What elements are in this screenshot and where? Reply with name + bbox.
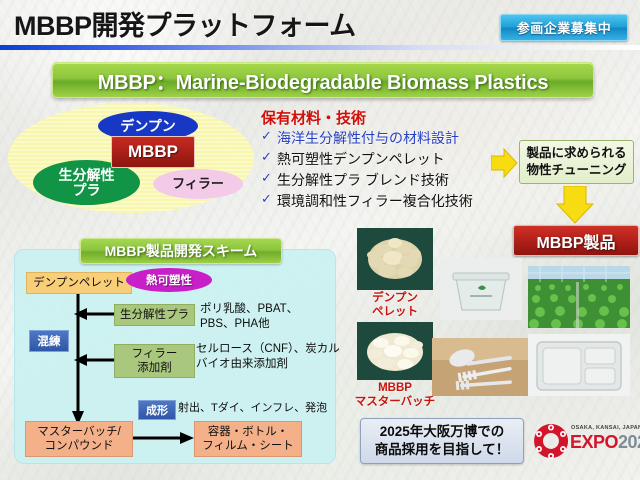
flow-box-container: 容器・ボトル・ フィルム・シート: [194, 421, 302, 457]
flow-box-biodegradable-plastic: 生分解性プラ: [114, 304, 195, 326]
mbbp-masterbatch-caption: MBBP マスターバッチ: [349, 382, 441, 410]
check-icon: ✓: [261, 191, 277, 207]
starch-pellets-photo: [357, 228, 433, 290]
list-item-label: 熱可塑性デンプンペレット: [277, 149, 445, 169]
mbbp-definition-banner: MBBP：Marine-Biodegradable Biomass Plasti…: [52, 62, 594, 98]
cutlery-photo: [432, 338, 532, 396]
holdings-heading: 保有材料・技術: [261, 107, 366, 128]
venn-diagram: デンプン 生分解性 プラ フィラー MBBP: [8, 103, 254, 213]
list-item-label: 環境調和性フィラー複合化技術: [277, 191, 473, 211]
venn-center-mbbp: MBBP: [111, 136, 195, 168]
flow-box-masterbatch: マスターバッチ/ コンパウンド: [25, 421, 133, 457]
flow-tag-mold: 成形: [138, 400, 176, 420]
flow-note-filler-additive: セルロース（CNF）、炭カル バイオ由来添加剤: [196, 342, 340, 372]
flow-note-biodegradable-plastic: ポリ乳酸、PBAT、 PBS、PHA他: [200, 302, 298, 332]
bento-tray-photo: [528, 334, 630, 396]
expo-logo-year-text: 2025: [618, 432, 640, 452]
arrow-down-icon: [556, 186, 594, 224]
list-item: ✓ 海洋生分解性付与の材料設計: [261, 128, 506, 148]
flow-tag-knead: 混練: [29, 330, 69, 352]
list-item-label: 生分解性プラ ブレンド技術: [277, 170, 449, 190]
holdings-list: ✓ 海洋生分解性付与の材料設計 ✓ 熱可塑性デンプンペレット ✓ 生分解性プラ …: [261, 128, 506, 212]
check-icon: ✓: [261, 128, 277, 144]
mbbp-masterbatch-photo: [357, 322, 433, 380]
check-icon: ✓: [261, 149, 277, 165]
expo-2025-logo: OSAKA, KANSAI, JAPAN EXPO2025: [533, 420, 635, 462]
venn-blob-filler: フィラー: [153, 169, 243, 199]
expo-logo-wordmark: EXPO2025: [570, 432, 640, 453]
mbbp-product-box: MBBP製品: [513, 225, 639, 256]
slide-root: MBBP開発プラットフォーム 参画企業募集中 MBBP：Marine-Biode…: [0, 0, 640, 480]
list-item: ✓ 生分解性プラ ブレンド技術: [261, 170, 506, 190]
flow-note-molding: 射出、Tダイ、インフレ、発泡: [178, 401, 327, 415]
page-title: MBBP開発プラットフォーム: [14, 4, 356, 43]
greenhouse-seedlings-photo: [528, 266, 630, 328]
expo-logo-subtitle: OSAKA, KANSAI, JAPAN: [571, 425, 640, 431]
expo-message-box: 2025年大阪万博での 商品採用を目指して！: [360, 418, 524, 464]
plastic-container-photo: [440, 258, 522, 320]
header-divider: [0, 45, 640, 50]
arrow-right-icon: [491, 148, 518, 178]
expo-logo-main-text: EXPO: [570, 432, 618, 452]
recruiting-badge[interactable]: 参画企業募集中: [500, 14, 628, 41]
list-item: ✓ 熱可塑性デンプンペレット: [261, 149, 506, 169]
check-icon: ✓: [261, 170, 277, 186]
starch-pellets-caption: デンプン ペレット: [349, 292, 441, 320]
tuning-box: 製品に求められる 物性チューニング: [519, 140, 634, 184]
flow-box-starch-pellet: デンプンペレット: [26, 272, 132, 294]
list-item: ✓ 環境調和性フィラー複合化技術: [261, 191, 506, 211]
flow-box-filler-additive: フィラー 添加剤: [114, 344, 195, 378]
list-item-label: 海洋生分解性付与の材料設計: [277, 128, 459, 148]
flow-ellipse-thermoplastic: 熱可塑性: [126, 268, 212, 292]
